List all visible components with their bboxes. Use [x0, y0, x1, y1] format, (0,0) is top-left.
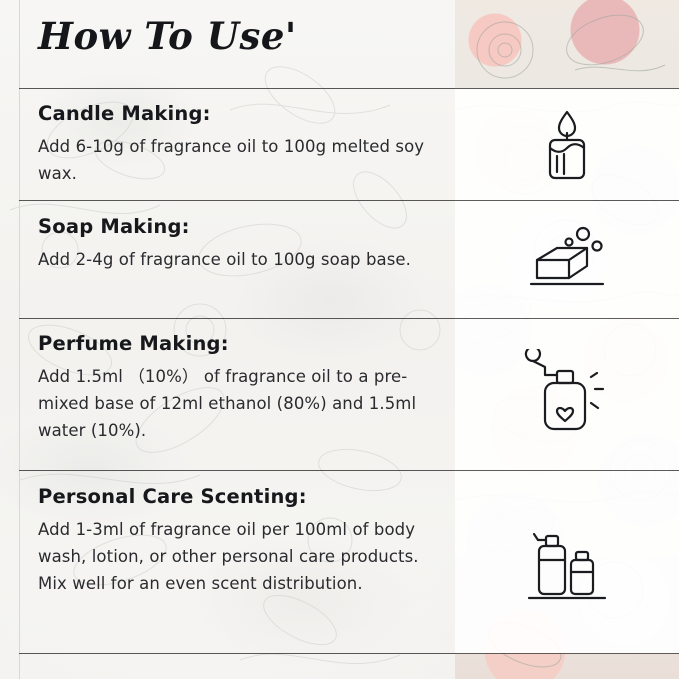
divider-1 [19, 200, 455, 201]
icon-cell-soap [455, 201, 679, 318]
section-heading: Soap Making: [38, 215, 438, 238]
section-heading: Personal Care Scenting: [38, 485, 438, 508]
section-body: Add 1.5ml （10%） of fragrance oil to a pr… [38, 363, 438, 444]
icon-cell-candle [455, 89, 679, 200]
candle-icon [524, 102, 610, 188]
lotion-bottles-icon [519, 516, 615, 608]
section-body: Add 2-4g of fragrance oil to 100g soap b… [38, 246, 438, 273]
botanical-photo-strip [455, 0, 679, 679]
icon-cell-personal-care [455, 471, 679, 653]
perfume-bottle-icon [519, 349, 615, 441]
strip-divider-bottom [455, 653, 679, 654]
soap-bar-icon [521, 220, 613, 300]
divider-2 [19, 318, 455, 319]
section-heading: Perfume Making: [38, 332, 438, 355]
section-body: Add 6-10g of fragrance oil to 100g melte… [38, 133, 438, 187]
instructions-panel: How To Use' Candle Making: Add 6-10g of … [0, 0, 455, 679]
divider-top [19, 88, 455, 89]
section-perfume-making: Perfume Making: Add 1.5ml （10%） of fragr… [38, 332, 438, 444]
page-root: How To Use' Candle Making: Add 6-10g of … [0, 0, 679, 679]
section-heading: Candle Making: [38, 102, 438, 125]
page-title-wrap: How To Use' [38, 14, 297, 58]
divider-bottom [19, 653, 455, 654]
section-candle-making: Candle Making: Add 6-10g of fragrance oi… [38, 102, 438, 187]
section-body: Add 1-3ml of fragrance oil per 100ml of … [38, 516, 438, 597]
icon-cell-perfume [455, 319, 679, 470]
section-soap-making: Soap Making: Add 2-4g of fragrance oil t… [38, 215, 438, 273]
section-personal-care-scenting: Personal Care Scenting: Add 1-3ml of fra… [38, 485, 438, 597]
divider-3 [19, 470, 455, 471]
page-title: How To Use' [38, 14, 297, 58]
